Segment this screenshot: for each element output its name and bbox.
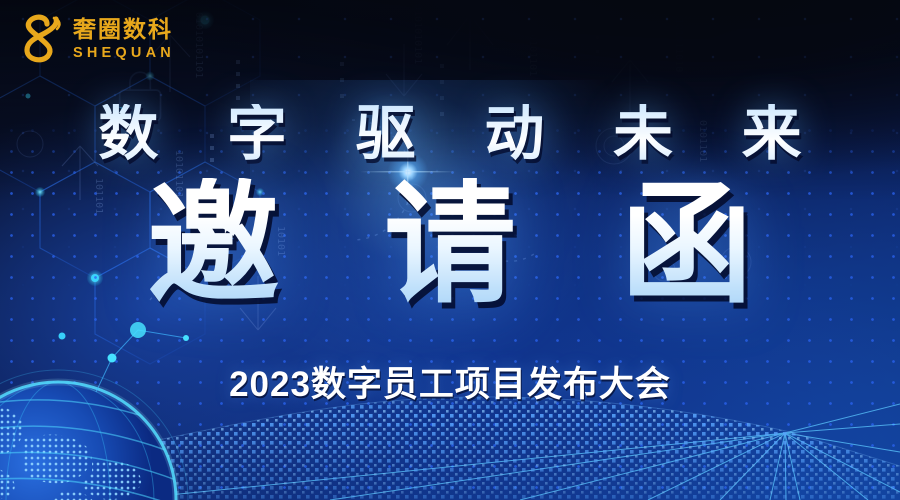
invitation-poster: 01010101101 10101101 0101010101 01010101… (0, 0, 900, 500)
brand-logo[interactable]: 奢圈数科 SHEQUAN (14, 12, 175, 66)
headline-block: 数 字 驱 动 未 来 邀 请 函 (0, 104, 900, 313)
hero-title-text: 邀 请 函 (34, 178, 900, 313)
event-subtitle: 2023数字员工项目发布大会 (0, 356, 900, 407)
tagline-text: 数 字 驱 动 未 来 (26, 104, 900, 164)
infinity-eight-logo-icon (14, 12, 66, 66)
brand-name-en: SHEQUAN (73, 46, 175, 61)
brand-name-cn: 奢圈数科 (73, 18, 175, 41)
brand-wordmark: 奢圈数科 SHEQUAN (73, 18, 175, 61)
